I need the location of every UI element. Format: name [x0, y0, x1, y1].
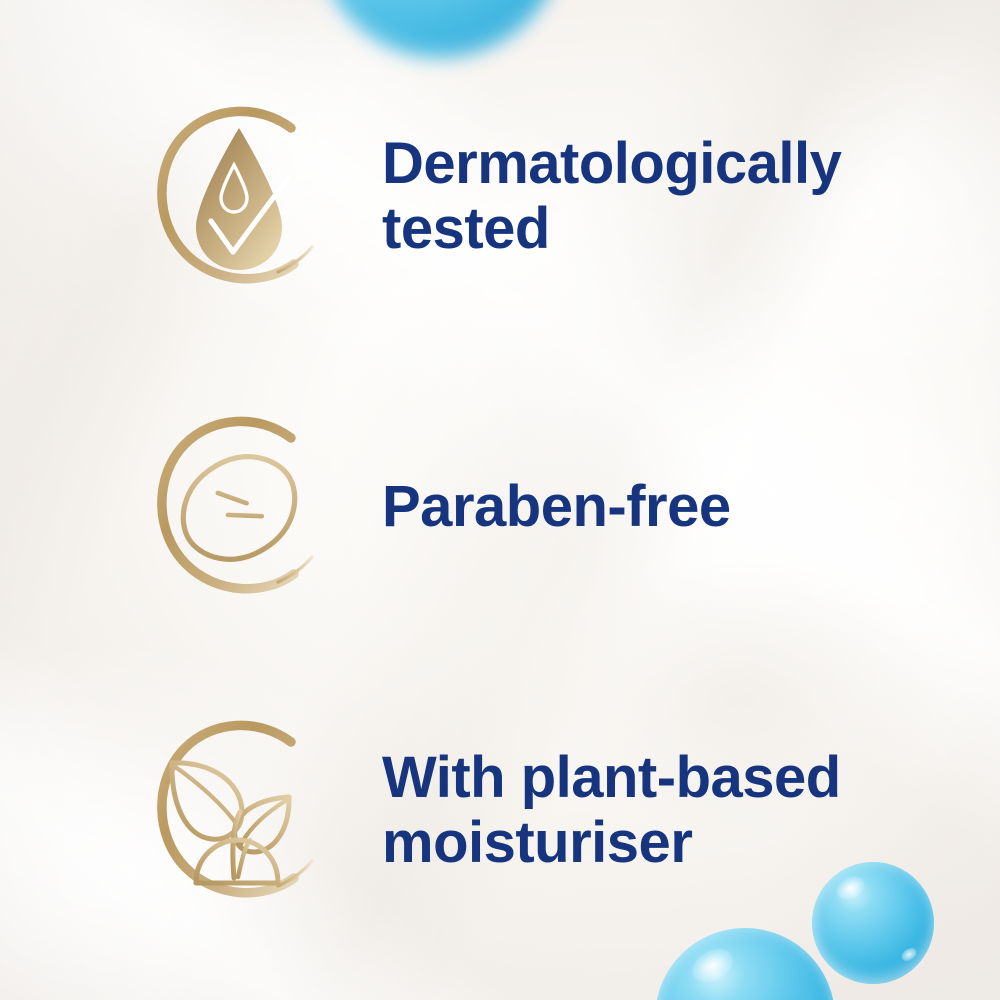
- feature-list: Dermatologically tested: [0, 0, 1000, 1000]
- gold-arc-badge: [128, 396, 350, 618]
- droplet-shape: [196, 128, 282, 270]
- gold-arc-badge: [128, 86, 350, 308]
- leaf-vein: [219, 490, 233, 512]
- feature-row: Paraben-free: [128, 396, 938, 618]
- feature-row: With plant-based moisturiser: [128, 700, 938, 922]
- gold-arc-badge: [128, 700, 350, 922]
- feature-label: Paraben-free: [382, 475, 731, 540]
- feature-label: With plant-based moisturiser: [382, 746, 841, 876]
- product-benefit-graphic: Dermatologically tested: [0, 0, 1000, 1000]
- feature-row: Dermatologically tested: [128, 86, 938, 308]
- feature-label: Dermatologically tested: [382, 132, 841, 262]
